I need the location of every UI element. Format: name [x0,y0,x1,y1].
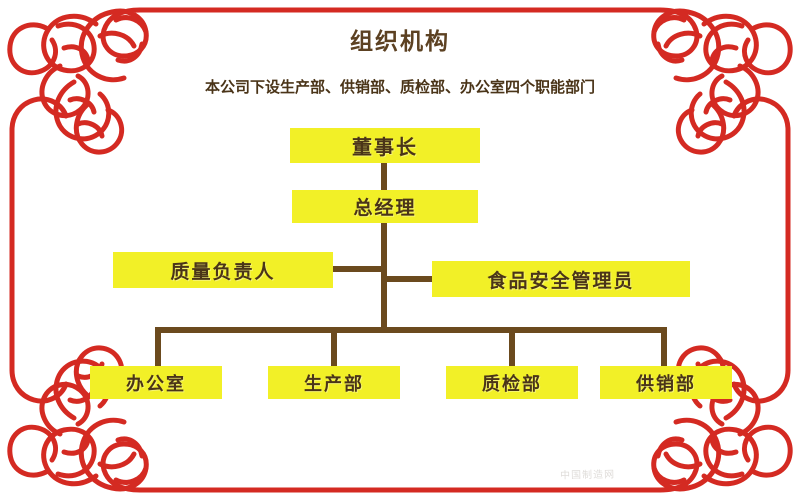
watermark-text: 中国制造网 [560,466,615,482]
connector-branch-to-food-safety [385,276,434,282]
org-chart-page: 组织机构 本公司下设生产部、供销部、质检部、办公室四个职能部门 董事长 总经理 … [0,0,800,500]
connector-bottom-bus [155,327,667,333]
connector-chairman-to-gm [381,163,387,190]
connector-drop-production [331,330,337,368]
node-general-manager-label: 总经理 [353,193,416,220]
node-supply-marketing-department-label: 供销部 [636,370,696,396]
node-supply-marketing-department[interactable]: 供销部 [600,366,732,399]
connector-branch-to-quality [333,266,383,272]
node-office-label: 办公室 [126,370,186,396]
node-production-department[interactable]: 生产部 [268,366,400,399]
node-quality-manager-label: 质量负责人 [170,257,275,284]
node-quality-inspection-department-label: 质检部 [482,370,542,396]
node-production-department-label: 生产部 [304,370,364,396]
page-title: 组织机构 [0,22,800,56]
connector-drop-office [155,330,161,368]
page-subtitle: 本公司下设生产部、供销部、质检部、办公室四个职能部门 [0,76,800,97]
connector-drop-quality-inspection [509,330,515,368]
node-quality-inspection-department[interactable]: 质检部 [446,366,578,399]
node-chairman[interactable]: 董事长 [290,128,480,163]
decorative-border-frame [0,0,800,500]
node-food-safety-administrator-label: 食品安全管理员 [487,266,634,293]
connector-drop-supply-marketing [661,330,667,368]
node-office[interactable]: 办公室 [90,366,222,399]
node-quality-manager[interactable]: 质量负责人 [113,252,333,288]
node-food-safety-administrator[interactable]: 食品安全管理员 [432,261,690,297]
node-chairman-label: 董事长 [352,131,418,160]
node-general-manager[interactable]: 总经理 [292,190,478,223]
